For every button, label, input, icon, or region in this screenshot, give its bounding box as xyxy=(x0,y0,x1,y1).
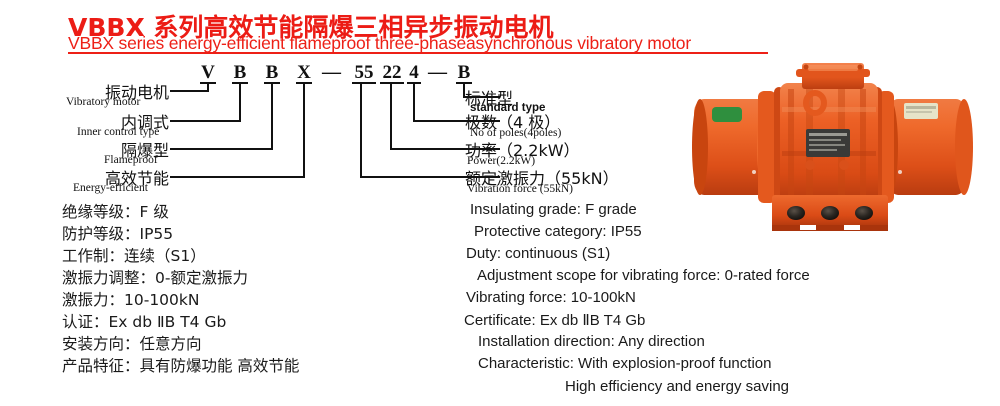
mounting-hole-3 xyxy=(855,206,873,220)
spec-cn-2: 防护等级：IP55 xyxy=(62,222,173,244)
leader-4-vertical xyxy=(413,82,415,121)
leader-x-horizontal xyxy=(170,176,305,178)
title-underline xyxy=(68,52,768,54)
spec-cn-5: 激振力：10-100kN xyxy=(62,288,199,310)
mounting-hole-1 xyxy=(787,206,805,220)
spec-cn-3: 工作制：连续（S1） xyxy=(62,244,206,266)
left-label-en-4: Energy-efficient xyxy=(73,182,148,194)
leader-b2-vertical xyxy=(271,82,273,150)
spec-en-8: Characteristic: With explosion-proof fun… xyxy=(478,355,771,372)
spec-cn-4: 激振力调整：0-额定激振力 xyxy=(62,266,248,288)
motor-illustration xyxy=(688,55,988,250)
spec-en-9: High efficiency and energy saving xyxy=(565,378,789,395)
page-title-en: VBBX series energy-efficient flameproof … xyxy=(68,33,691,54)
spec-en-7: Installation direction: Any direction xyxy=(478,333,705,350)
left-label-en-1: Vibratory motor xyxy=(66,96,140,108)
spec-cn-6: 认证：Ex db ⅡB T4 Gb xyxy=(62,310,226,332)
right-label-en-4: Vibration force (55kN) xyxy=(467,183,573,195)
leader-22-vertical xyxy=(390,82,392,149)
mounting-hole-2 xyxy=(821,206,839,220)
code-char-b2: B xyxy=(264,62,280,84)
code-char-55: 55 xyxy=(352,62,376,84)
leader-x-vertical xyxy=(303,82,305,178)
leader-v-horizontal xyxy=(170,90,209,92)
motor-junction-box xyxy=(796,63,870,89)
code-underline-55 xyxy=(352,82,376,84)
leader-b2-horizontal xyxy=(170,148,273,150)
spec-en-4: Adjustment scope for vibrating force: 0-… xyxy=(477,267,810,284)
motor-housing xyxy=(780,83,878,209)
spec-en-6: Certificate: Ex db ⅡB T4 Gb xyxy=(464,311,645,329)
motor-right-end-cap xyxy=(882,99,973,195)
spec-en-3: Duty: continuous (S1) xyxy=(466,245,610,262)
code-char-b3: B xyxy=(456,62,472,84)
leader-b1-vertical xyxy=(239,82,241,122)
spec-cn-7: 安装方向：任意方向 xyxy=(62,332,202,354)
leader-b1-horizontal xyxy=(170,120,241,122)
code-char-v: V xyxy=(200,62,216,84)
product-image-vibratory-motor xyxy=(688,55,988,250)
code-char-22: 22 xyxy=(380,62,404,84)
motor-mounting-base xyxy=(772,195,888,231)
leader-55-vertical xyxy=(360,82,362,177)
spec-en-2: Protective category: IP55 xyxy=(474,223,642,240)
code-dash-2: — xyxy=(428,62,447,84)
green-sticker xyxy=(712,107,742,122)
spec-en-1: Insulating grade: F grade xyxy=(470,201,637,218)
spec-cn-8: 产品特征：具有防爆功能 高效节能 xyxy=(62,354,299,376)
code-char-x: X xyxy=(296,62,312,84)
code-char-b1: B xyxy=(232,62,248,84)
spec-en-5: Vibrating force: 10-100kN xyxy=(466,289,636,306)
code-dash-1: — xyxy=(322,62,341,84)
spec-cn-1: 绝缘等级：F 级 xyxy=(62,200,169,222)
code-underline-22 xyxy=(380,82,404,84)
code-char-4: 4 xyxy=(407,62,421,84)
